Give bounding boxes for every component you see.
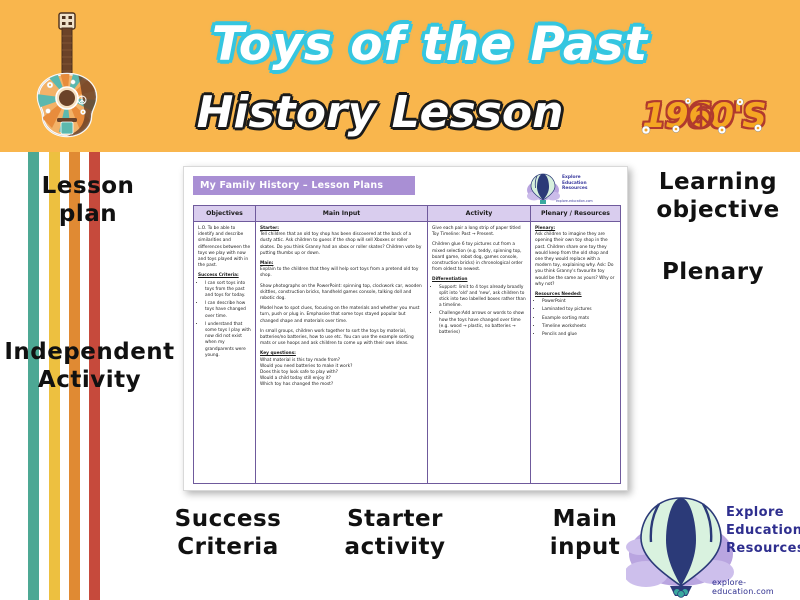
list-item: Pencils and glue	[542, 332, 616, 338]
success-criteria-heading: Success Criteria:	[198, 273, 251, 279]
annotation-learning-objective: Learningobjective	[638, 168, 798, 224]
list-item: PowerPoint	[542, 299, 616, 305]
resources-heading: Resources Needed:	[535, 292, 616, 298]
document-logo-url: explore-education.com	[556, 199, 593, 203]
success-criteria-list: I can sort toys into toys from the past …	[198, 281, 251, 359]
list-item: Challenge:Add arrows or words to show ho…	[439, 311, 526, 336]
list-item: I understand that some toys I play with …	[205, 322, 251, 359]
cell-main-input: Starter: Tell children that an old toy s…	[256, 222, 428, 484]
differentiation-list: Support: limit to 4 toys already broadly…	[432, 285, 526, 337]
list-item: Example sorting mats	[542, 316, 616, 322]
column-header-main-input: Main Input	[256, 206, 428, 222]
annotation-starter-activity: Starteractivity	[315, 505, 475, 561]
plenary-text: Ask children to imagine they are opening…	[535, 232, 616, 288]
page-title-main: Toys of the Past	[150, 14, 710, 76]
page-title-sub: History Lesson	[120, 84, 640, 142]
brand-logo: Explore Education Resources explore-educ…	[626, 492, 800, 598]
brand-url: explore-education.com	[712, 578, 800, 596]
learning-objective-text: L.O. To be able to identify and describe…	[198, 226, 251, 269]
list-item: I can describe how toys have changed ove…	[205, 301, 251, 320]
main-paragraph-4: In small groups, children work together …	[260, 329, 423, 348]
resources-list: PowerPoint Laminated toy pictures Exampl…	[535, 299, 616, 338]
annotation-plenary: Plenary	[638, 258, 788, 286]
document-logo-text: Explore Education Resources	[562, 175, 587, 192]
document-logo: Explore Education Resources explore-educ…	[526, 172, 618, 206]
lesson-plan-table: Objectives Main Input Activity Plenary /…	[193, 205, 621, 484]
table-header-row: Objectives Main Input Activity Plenary /…	[194, 206, 621, 222]
main-paragraph-2: Show photographs on the PowerPoint: spin…	[260, 284, 423, 303]
list-item: Laminated toy pictures	[542, 307, 616, 313]
annotation-success-criteria: SuccessCriteria	[148, 505, 308, 561]
column-header-objectives: Objectives	[194, 206, 256, 222]
list-item: Support: limit to 4 toys already broadly…	[439, 285, 526, 310]
document-title: My Family History – Lesson Plans	[193, 176, 415, 195]
brand-name: Explore Education Resources	[726, 504, 800, 558]
key-question: Which toy has changed the most?	[260, 382, 423, 388]
decade-badge: 1960'S	[628, 92, 780, 140]
retro-guitar-icon	[26, 8, 108, 148]
document-header: My Family History – Lesson Plans Explore…	[193, 174, 618, 204]
cell-plenary-resources: Plenary: Ask children to imagine they ar…	[531, 222, 621, 484]
lesson-plan-document: My Family History – Lesson Plans Explore…	[183, 166, 628, 491]
list-item: Timeline worksheets	[542, 324, 616, 330]
activity-paragraph-2: Children glue 6 toy pictures cut from a …	[432, 242, 526, 273]
starter-text: Tell children that an old toy shop has b…	[260, 232, 423, 257]
list-item: I can sort toys into toys from the past …	[205, 281, 251, 300]
cell-activity: Give each pair a long strip of paper tit…	[428, 222, 531, 484]
column-header-activity: Activity	[428, 206, 531, 222]
main-paragraph-1: Explain to the children that they will h…	[260, 267, 423, 279]
annotation-lesson-plan: Lessonplan	[8, 172, 168, 228]
cell-objectives: L.O. To be able to identify and describe…	[194, 222, 256, 484]
main-paragraph-3: Model how to spot clues, focusing on the…	[260, 306, 423, 325]
column-header-plenary-resources: Plenary / Resources	[531, 206, 621, 222]
table-row: L.O. To be able to identify and describe…	[194, 222, 621, 484]
activity-paragraph-1: Give each pair a long strip of paper tit…	[432, 226, 526, 238]
annotation-independent-activity: IndependentActivity	[2, 338, 177, 394]
differentiation-heading: Differentiation	[432, 277, 526, 283]
